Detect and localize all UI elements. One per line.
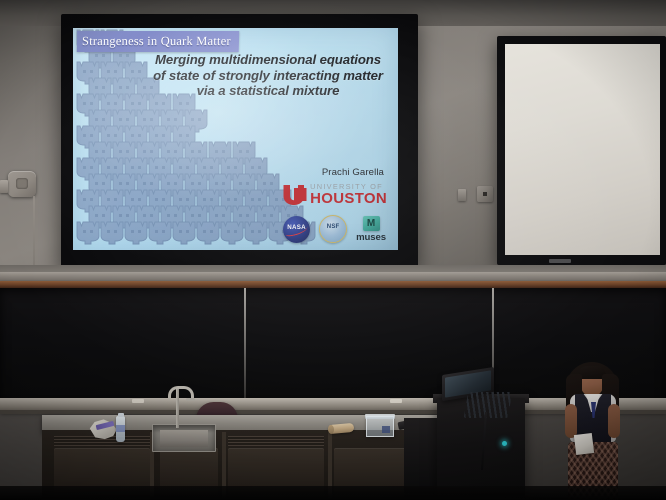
university-of-houston-logo: UNIVERSITY OF HOUSTON	[282, 183, 387, 206]
bench-sink	[152, 424, 216, 452]
uh-wordmark-line-1: UNIVERSITY OF	[310, 183, 387, 190]
bottle-label	[116, 425, 125, 432]
slide-author: Prachi Garella	[322, 167, 384, 178]
secondary-screen-surface	[505, 44, 660, 255]
slide-title-line-1: Merging multidimensional equations	[145, 52, 391, 68]
bin-label	[382, 426, 390, 433]
cable-bundle	[464, 392, 513, 418]
screen-pull-tab[interactable]	[549, 259, 571, 263]
muses-logo: muses	[356, 216, 386, 243]
slide-title: Merging multidimensional equations of st…	[145, 52, 391, 99]
water-bottle[interactable]	[116, 416, 125, 442]
slide-title-line-3: via a statistical mixture	[145, 83, 391, 99]
uh-wordmark-line-2: HOUSTON	[310, 191, 387, 206]
muses-mark-icon	[363, 216, 380, 231]
presenter	[548, 358, 634, 500]
uh-wordmark: UNIVERSITY OF HOUSTON	[310, 183, 387, 206]
bin-lid	[365, 414, 395, 419]
plastic-bin[interactable]	[366, 416, 394, 437]
slide-title-line-2: of state of strongly interacting matter	[145, 68, 391, 84]
wall-outlet-plate-left[interactable]	[458, 189, 466, 201]
sponsor-logos: NASA NSF muses	[283, 215, 386, 243]
chalkboard-seam-left	[244, 288, 246, 398]
floor-shadow	[0, 486, 666, 500]
board-wood-trim	[0, 281, 666, 288]
wall-outlet-plate-right[interactable]	[477, 186, 493, 202]
presenter-arm-right	[608, 404, 620, 438]
wall-switch-plate[interactable]	[0, 180, 8, 193]
main-projection-screen[interactable]: Strangeness in Quark Matter Merging mult…	[61, 14, 418, 268]
chalk-piece[interactable]	[132, 399, 144, 403]
wall-thermostat[interactable]	[8, 171, 36, 197]
nasa-logo-icon: NASA	[283, 216, 310, 243]
sink-basin	[160, 430, 208, 447]
secondary-projection-screen[interactable]	[497, 36, 666, 265]
conference-banner-label: Strangeness in Quark Matter	[82, 34, 231, 48]
uh-monogram-icon	[282, 184, 307, 206]
presenter-arm-left	[565, 404, 577, 438]
presenter-notes	[574, 433, 594, 455]
conference-banner: Strangeness in Quark Matter	[77, 31, 239, 52]
nsf-logo-label: NSF	[320, 224, 346, 230]
lecture-hall-photo: Strangeness in Quark Matter Merging mult…	[0, 0, 666, 500]
status-led	[502, 441, 507, 446]
board-top-rail	[0, 272, 666, 281]
presentation-slide: Strangeness in Quark Matter Merging mult…	[73, 28, 398, 250]
nsf-logo-icon: NSF	[319, 215, 347, 243]
bench-vent-2	[228, 436, 324, 446]
bottle-cap	[118, 413, 124, 417]
faucet-handle[interactable]	[186, 398, 195, 401]
eraser[interactable]	[390, 399, 402, 403]
muses-logo-label: muses	[356, 232, 386, 243]
